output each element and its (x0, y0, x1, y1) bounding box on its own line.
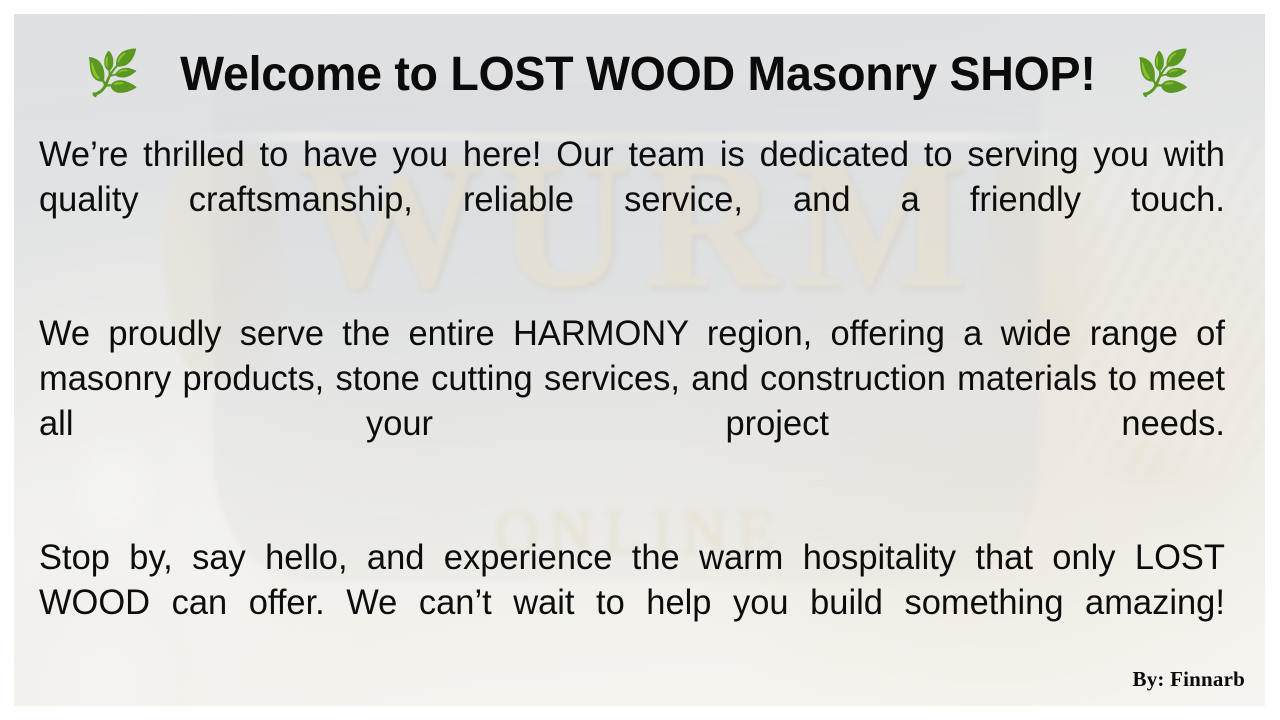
poster-content: 🌿 Welcome to LOST WOOD Masonry SHOP! 🌿 W… (14, 14, 1265, 706)
poster-slide: WURM ONLINE 🌿 Welcome to LOST WOOD Mason… (0, 0, 1280, 720)
body-text: We’re thrilled to have you here! Our tea… (25, 132, 1251, 670)
poster-canvas: WURM ONLINE 🌿 Welcome to LOST WOOD Mason… (14, 14, 1265, 706)
title-row: 🌿 Welcome to LOST WOOD Masonry SHOP! 🌿 (25, 14, 1251, 96)
page-title: Welcome to LOST WOOD Masonry SHOP! (180, 47, 1095, 102)
herb-icon-right: 🌿 (1136, 52, 1191, 96)
herb-icon-left: 🌿 (85, 52, 140, 96)
paragraph-invitation: Stop by, say hello, and experience the w… (39, 535, 1225, 670)
paragraph-intro: We’re thrilled to have you here! Our tea… (39, 132, 1225, 267)
paragraph-services: We proudly serve the entire HARMONY regi… (39, 311, 1225, 491)
author-signature: By: Finnarb (1133, 667, 1245, 692)
